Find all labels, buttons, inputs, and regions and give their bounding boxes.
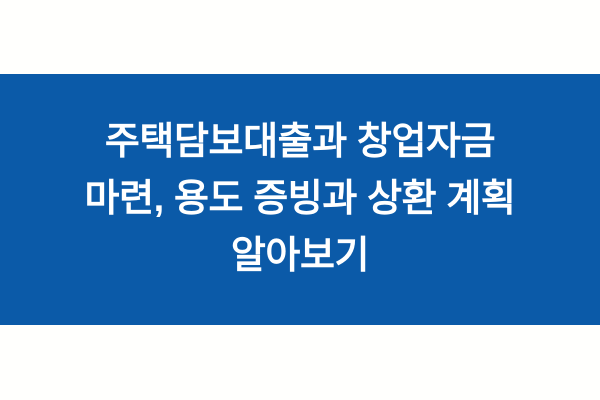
headline-line-1: 주택담보대출과 창업자금 <box>10 114 590 171</box>
headline-line-2: 마련, 용도 증빙과 상환 계획 <box>10 171 590 228</box>
title-banner: 주택담보대출과 창업자금 마련, 용도 증빙과 상환 계획 알아보기 <box>0 74 600 325</box>
bottom-margin-strip <box>0 325 600 400</box>
thumbnail-canvas: 주택담보대출과 창업자금 마련, 용도 증빙과 상환 계획 알아보기 <box>0 0 600 400</box>
headline-line-3: 알아보기 <box>10 228 590 285</box>
headline-block: 주택담보대출과 창업자금 마련, 용도 증빙과 상환 계획 알아보기 <box>0 114 600 285</box>
top-margin-strip <box>0 0 600 74</box>
